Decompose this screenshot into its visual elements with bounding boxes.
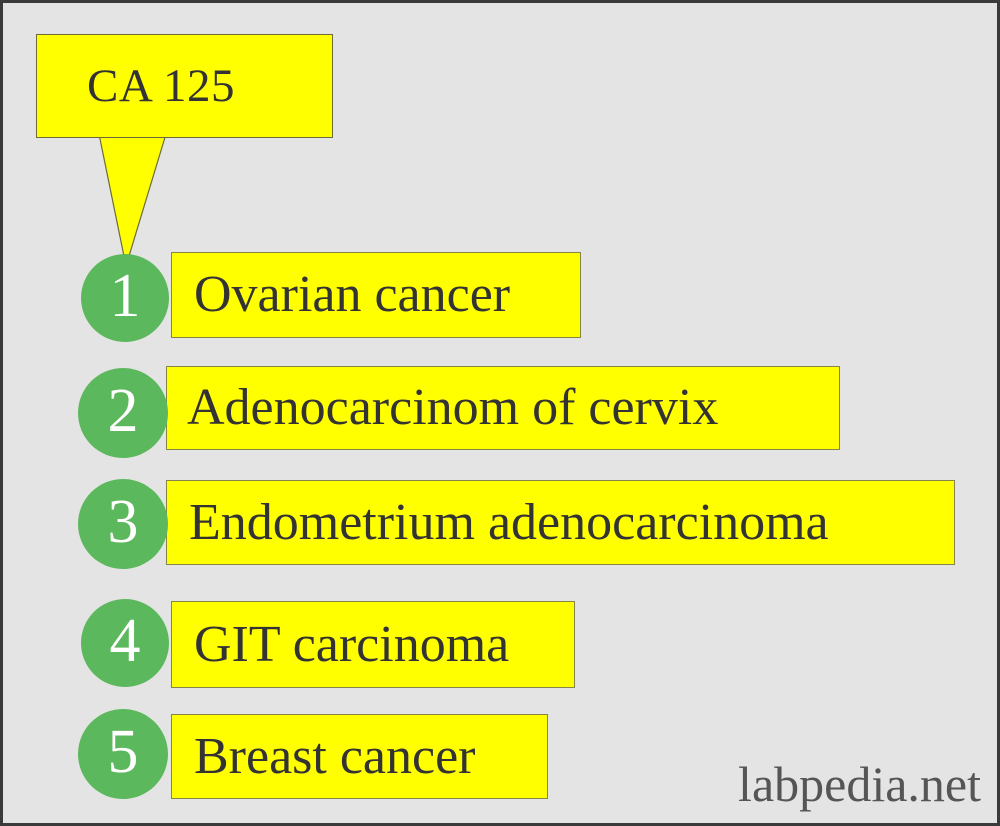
- list-item-number-badge: 3: [78, 479, 168, 569]
- list-item-number: 5: [108, 721, 139, 783]
- infographic-canvas: CA 125 Ovarian cancer1Adenocarcinom of c…: [0, 0, 1000, 826]
- list-item-label: GIT carcinoma: [172, 619, 509, 671]
- list-item-number: 3: [108, 491, 139, 553]
- list-item-number: 2: [108, 380, 139, 442]
- list-item-box: Breast cancer: [171, 714, 548, 799]
- callout-box: CA 125: [36, 34, 333, 138]
- list-item-box: Endometrium adenocarcinoma: [166, 480, 955, 565]
- list-item-number: 1: [110, 265, 141, 327]
- list-item-number-badge: 5: [78, 709, 168, 799]
- list-item-box: Ovarian cancer: [171, 252, 581, 338]
- list-item-label: Ovarian cancer: [172, 269, 510, 321]
- list-item-box: Adenocarcinom of cervix: [166, 366, 840, 450]
- list-item-number-badge: 2: [78, 368, 168, 458]
- list-item-number: 4: [110, 610, 141, 672]
- list-item-label: Endometrium adenocarcinoma: [167, 497, 829, 549]
- list-item-number-badge: 1: [81, 254, 169, 342]
- callout-group: CA 125: [36, 34, 338, 270]
- site-watermark: labpedia.net: [738, 759, 981, 809]
- list-item-number-badge: 4: [81, 599, 169, 687]
- list-item-label: Breast cancer: [172, 731, 475, 783]
- callout-title: CA 125: [37, 63, 235, 110]
- list-item-box: GIT carcinoma: [171, 601, 575, 688]
- list-item-label: Adenocarcinom of cervix: [167, 382, 718, 434]
